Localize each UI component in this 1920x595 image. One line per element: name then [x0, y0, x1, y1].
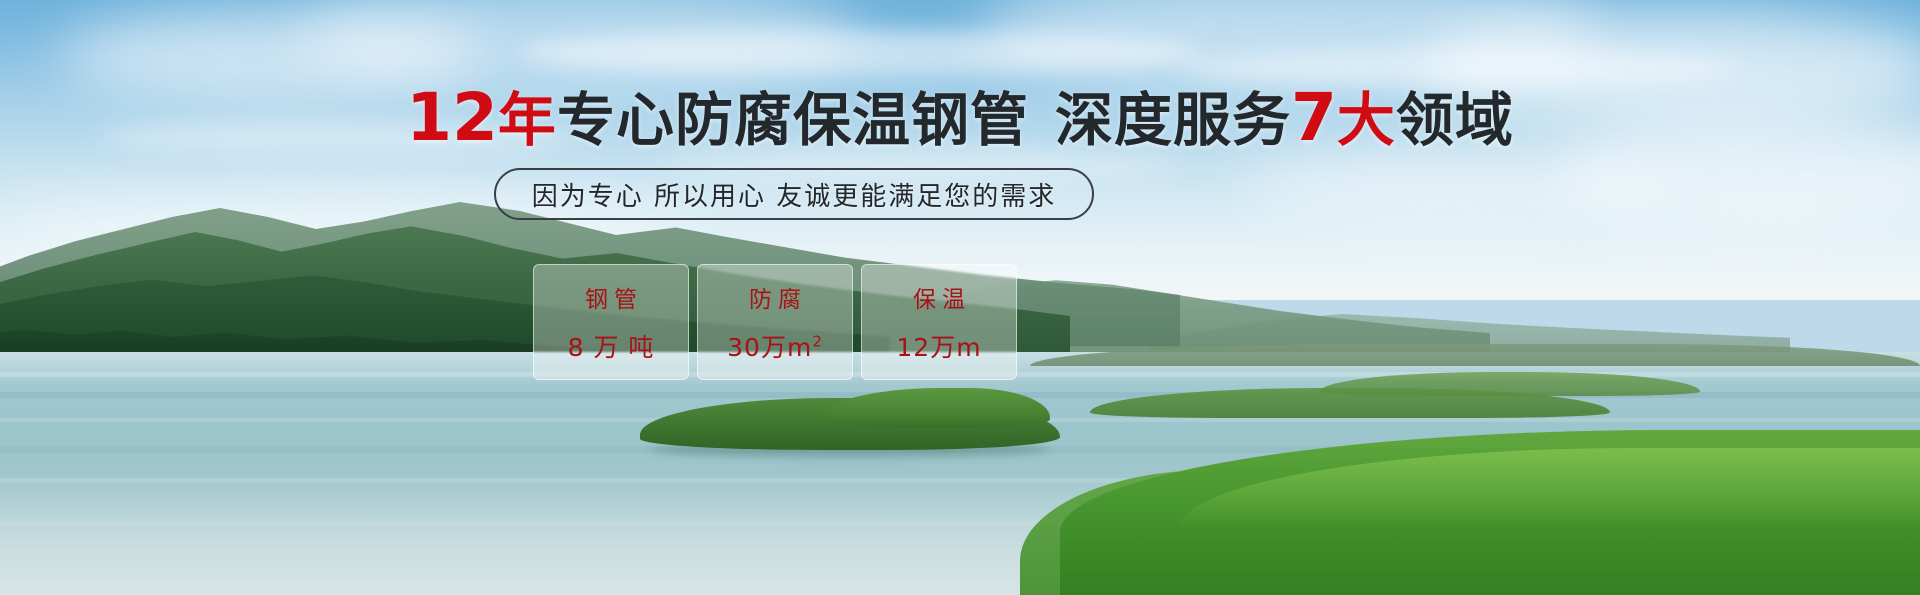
headline-years-unit: 年: [498, 86, 557, 154]
stat-card-anticorrosion[interactable]: 防腐 30万m2: [697, 264, 853, 380]
headline-highlight-unit: 大: [1337, 86, 1396, 154]
stat-card-steel-pipe[interactable]: 钢管 8 万 吨: [533, 264, 689, 380]
stat-card-value-text: 8 万 吨: [568, 333, 655, 362]
headline-highlight-number: 7: [1291, 79, 1337, 156]
stat-card-group: 钢管 8 万 吨 防腐 30万m2 保温 12万m: [533, 264, 1017, 380]
stat-card-value: 12万m: [896, 328, 981, 364]
hero-banner: 12年专心防腐保温钢管深度服务7大领域 因为专心 所以用心 友诚更能满足您的需求…: [0, 0, 1920, 595]
stat-card-value: 30万m2: [727, 328, 823, 364]
headline-segment-3: 领域: [1396, 86, 1514, 154]
cloud-icon: [1240, 150, 1660, 220]
stat-card-value: 8 万 吨: [568, 328, 655, 364]
stat-card-title: 防腐: [743, 280, 807, 314]
page-title: 12年专心防腐保温钢管深度服务7大领域: [0, 88, 1920, 150]
stat-card-insulation[interactable]: 保温 12万m: [861, 264, 1017, 380]
headline-segment-2: 深度服务: [1055, 86, 1291, 154]
stat-card-value-text: 30万m: [727, 333, 812, 362]
stat-card-title: 钢管: [579, 280, 643, 314]
stat-card-title: 保温: [907, 280, 971, 314]
headline-years-number: 12: [406, 79, 498, 156]
headline-segment-1: 专心防腐保温钢管: [557, 86, 1029, 154]
stat-card-value-text: 12万m: [896, 333, 981, 362]
stat-card-value-superscript: 2: [812, 333, 823, 351]
subtitle-text: 因为专心 所以用心 友诚更能满足您的需求: [532, 176, 1057, 213]
subtitle-pill: 因为专心 所以用心 友诚更能满足您的需求: [494, 168, 1094, 220]
